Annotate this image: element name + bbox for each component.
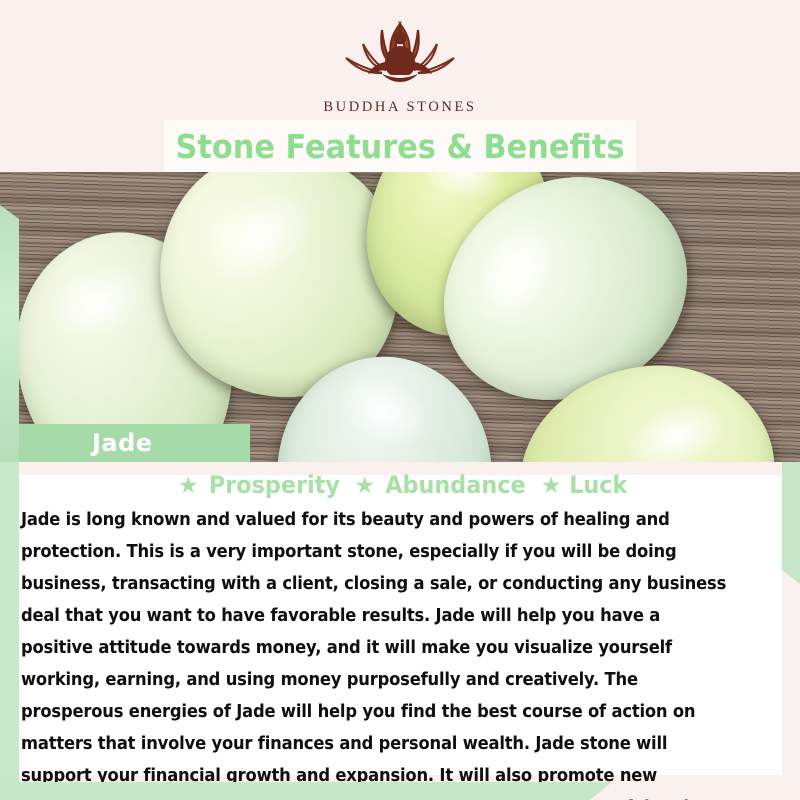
star-icon: ★ [354, 472, 375, 499]
title-band: Stone Features & Benefits [164, 120, 636, 172]
keyword-abundance: Abundance [385, 471, 525, 499]
brand-logo: BUDDHA STONES [0, 18, 800, 116]
frame-bottom-green-bar [0, 782, 612, 800]
frame-left-body-green-bar [0, 462, 19, 800]
star-icon: ★ [178, 472, 199, 499]
lotus-meditation-icon [330, 18, 470, 96]
frame-right-body-green-bar [782, 462, 800, 584]
stone-name-label: Jade [19, 424, 250, 462]
jade-stones-photo [0, 172, 800, 462]
keyword-prosperity: Prosperity [208, 471, 339, 499]
brand-name: BUDDHA STONES [0, 99, 800, 116]
keyword-luck: Luck [569, 471, 627, 499]
stone-description: Jade is long known and valued for its be… [21, 504, 735, 800]
frame-left-photo-green-bar [0, 205, 19, 465]
body-panel: ★Prosperity★Abundance★Luck Jade is long … [19, 462, 782, 782]
poster-root: BUDDHA STONES Stone Features & Benefits … [0, 0, 800, 800]
keywords-row: ★Prosperity★Abundance★Luck [19, 471, 782, 499]
stone-name-text: Jade [92, 429, 153, 457]
star-icon: ★ [541, 472, 562, 499]
page-title: Stone Features & Benefits [176, 127, 625, 166]
